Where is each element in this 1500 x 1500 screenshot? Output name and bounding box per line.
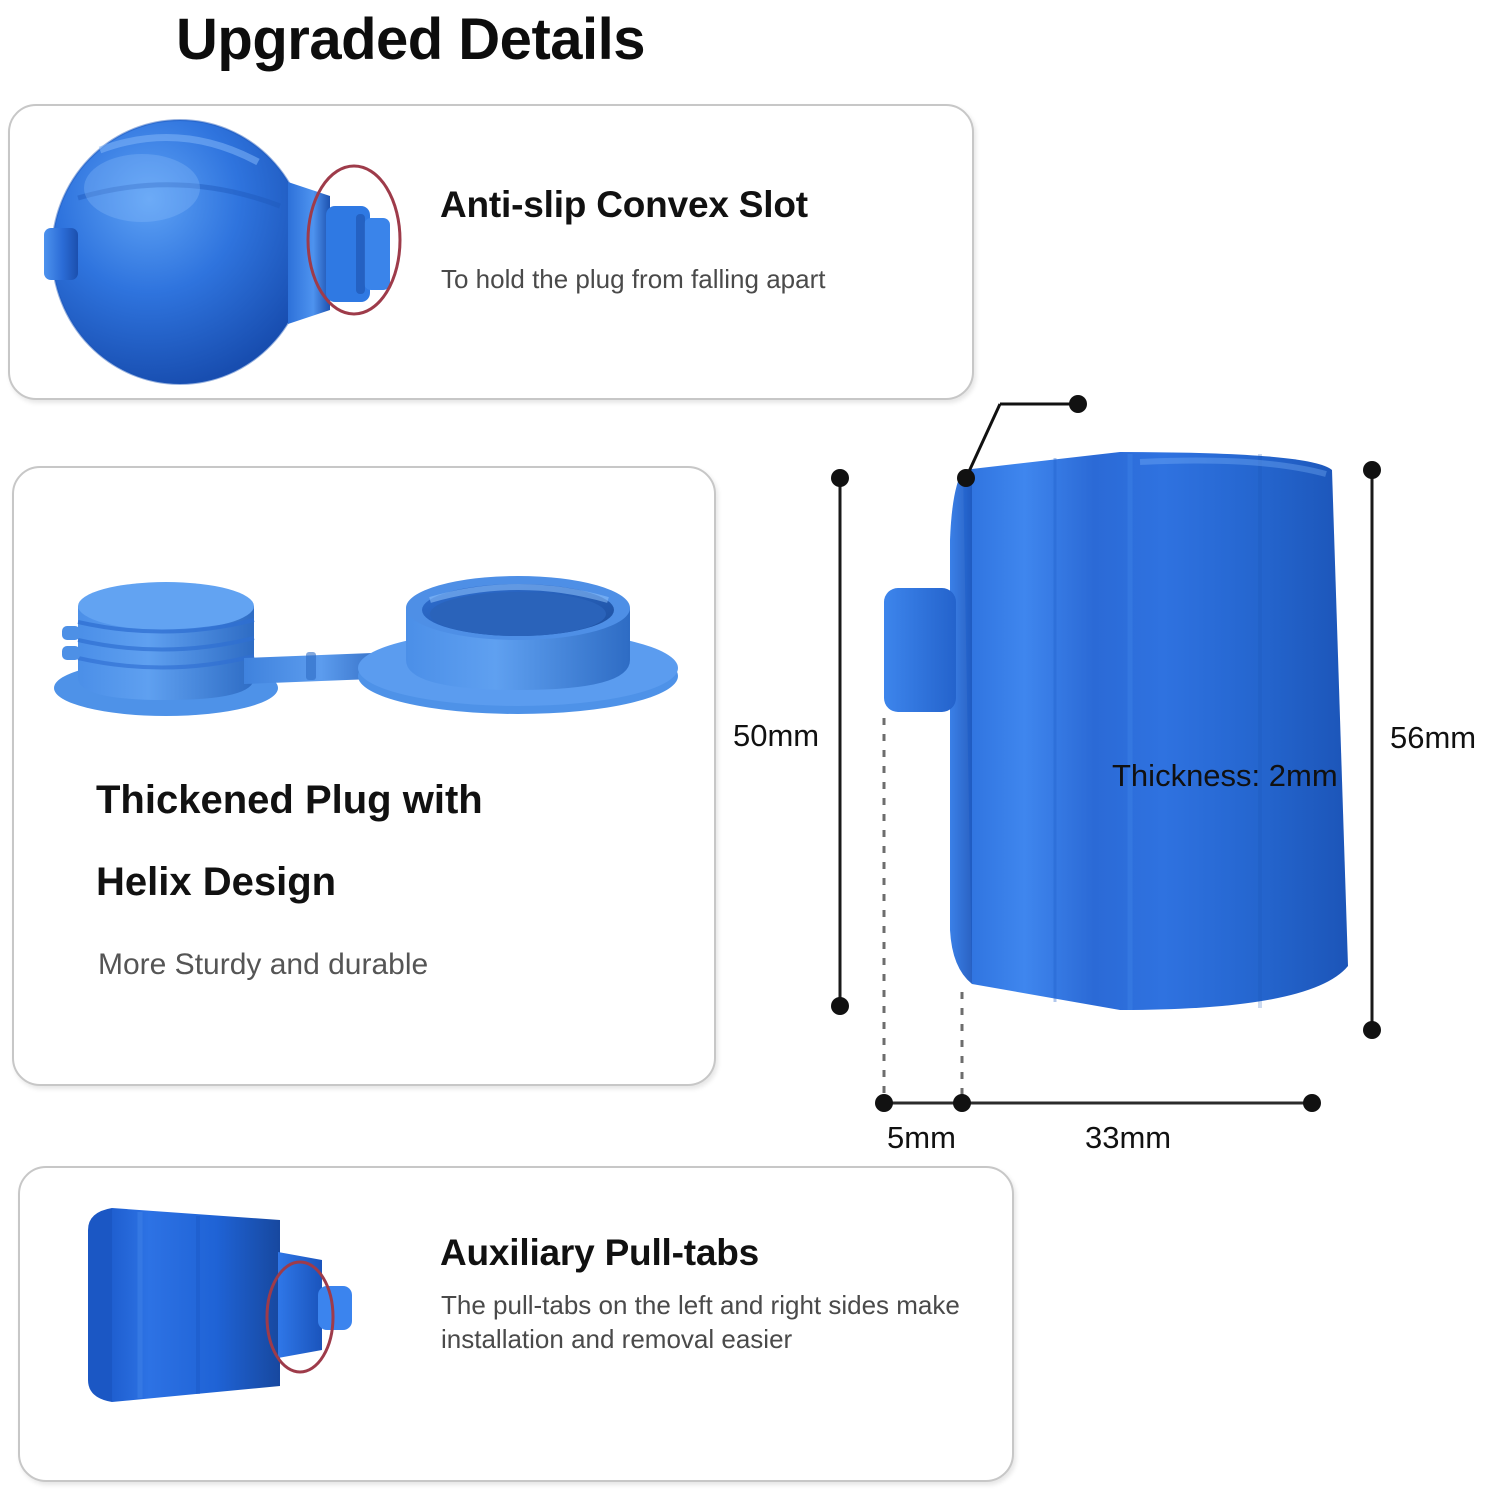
- highlight-circle-anti-slip: [300, 160, 408, 320]
- thickened-plug-heading-line2: Helix Design: [96, 862, 656, 902]
- height-right-label: 56mm: [1390, 720, 1476, 756]
- anti-slip-heading: Anti-slip Convex Slot: [440, 184, 808, 226]
- dimension-diagram: Thickness: 2mm 50mm 56mm 5mm 33mm: [700, 370, 1500, 1170]
- highlight-circle-pull-tab: [258, 1258, 342, 1376]
- infographic-page: Upgraded Details: [0, 0, 1500, 1500]
- plug-with-helix-threads-and-ring-image: [38, 548, 698, 718]
- page-title: Upgraded Details: [176, 6, 645, 73]
- dimension-diagram-svg: [700, 370, 1500, 1170]
- body-depth-label: 33mm: [1085, 1120, 1171, 1156]
- tab-width-label: 5mm: [887, 1120, 956, 1156]
- thickness-label: Thickness: 2mm: [1112, 758, 1338, 794]
- cap-side-view-with-pull-tab-image: [70, 1190, 410, 1450]
- pull-tabs-heading: Auxiliary Pull-tabs: [440, 1232, 759, 1274]
- pull-tabs-subtitle: The pull-tabs on the left and right side…: [441, 1288, 961, 1357]
- cap-body-shape: [963, 452, 1348, 1010]
- height-left-label: 50mm: [733, 718, 819, 754]
- pull-tab-shape: [884, 588, 956, 712]
- thickened-plug-subtitle: More Sturdy and durable: [98, 948, 428, 982]
- anti-slip-subtitle: To hold the plug from falling apart: [441, 262, 825, 296]
- thickened-plug-heading: Thickened Plug with Helix Design: [96, 780, 656, 902]
- thickened-plug-heading-line1: Thickened Plug with: [96, 780, 656, 820]
